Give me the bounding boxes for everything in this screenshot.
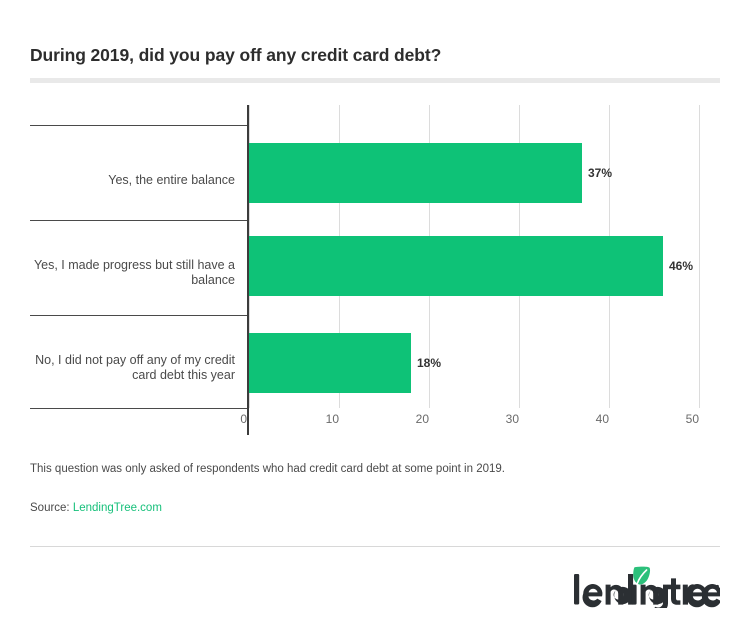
- chart-footnote: This question was only asked of responde…: [30, 462, 720, 477]
- xtick-40: 40: [596, 412, 609, 426]
- xtick-50: 50: [686, 412, 699, 426]
- chart-plot-area: Yes, the entire balance Yes, I made prog…: [30, 105, 720, 435]
- page-title: During 2019, did you pay off any credit …: [30, 44, 720, 66]
- bar-yes-entire-balance[interactable]: [249, 143, 582, 203]
- category-label-column: Yes, the entire balance Yes, I made prog…: [30, 105, 247, 408]
- bar-value-2: 18%: [417, 356, 441, 370]
- lendingtree-logo: [572, 568, 720, 608]
- xtick-20: 20: [416, 412, 429, 426]
- category-divider-top: [30, 125, 247, 126]
- bar-no-did-not-pay-off[interactable]: [249, 333, 411, 393]
- title-divider: [30, 78, 720, 83]
- gridline-50: [699, 105, 700, 408]
- bar-value-1: 46%: [669, 259, 693, 273]
- lendingtree-logo-svg: [572, 566, 720, 608]
- source-line: Source: LendingTree.com: [30, 501, 162, 516]
- bar-value-0: 37%: [588, 166, 612, 180]
- xtick-0: 0: [240, 412, 247, 426]
- source-link[interactable]: LendingTree.com: [73, 502, 162, 514]
- xtick-10: 10: [326, 412, 339, 426]
- category-divider-2: [30, 315, 247, 316]
- category-label-2: No, I did not pay off any of my credit c…: [30, 353, 235, 383]
- category-label-0: Yes, the entire balance: [30, 173, 235, 188]
- footer-divider: [30, 546, 720, 547]
- leaf-icon: [633, 567, 650, 585]
- category-divider-bottom: [30, 408, 247, 409]
- chart-card: During 2019, did you pay off any credit …: [0, 0, 750, 629]
- category-divider-1: [30, 220, 247, 221]
- bar-yes-made-progress[interactable]: [249, 236, 663, 296]
- source-label: Source:: [30, 502, 70, 514]
- xtick-30: 30: [506, 412, 519, 426]
- category-label-1: Yes, I made progress but still have a ba…: [30, 258, 235, 288]
